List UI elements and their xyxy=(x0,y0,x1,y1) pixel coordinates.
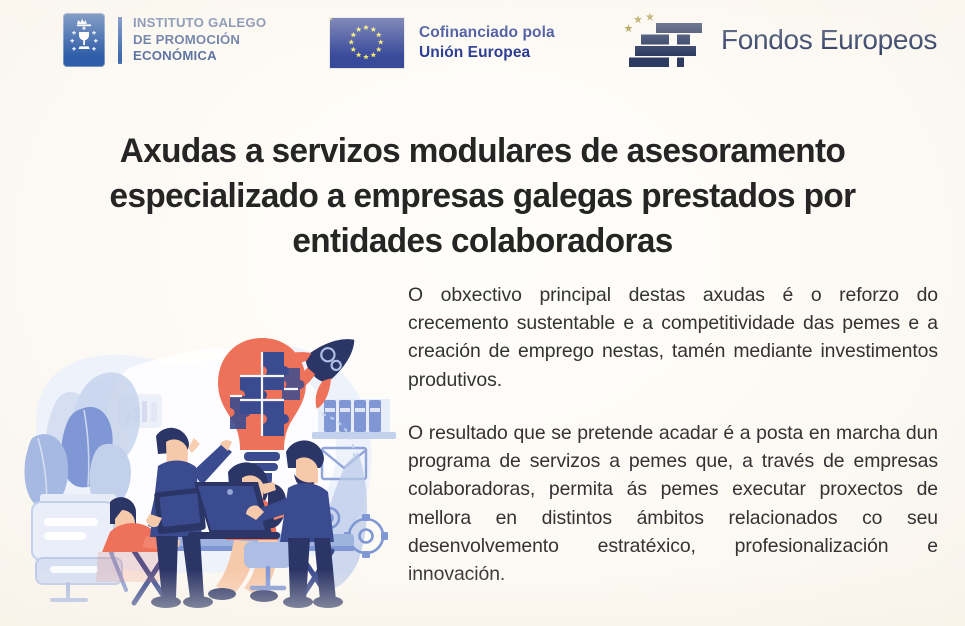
page-title: Axudas a servizos modulares de asesorame… xyxy=(44,129,921,264)
logo-igape: INSTITUTO GALEGO DE PROMOCIÓN ECONÓMICA xyxy=(63,13,266,67)
paragraph-objective: O obxectivo principal destas axudas é o … xyxy=(408,281,938,394)
european-union-label: Cofinanciado pola Unión Europea xyxy=(419,23,555,62)
paragraph-result: O resultado que se pretende acadar é a p… xyxy=(408,419,938,588)
fondos-europeos-stair-mark xyxy=(622,9,708,71)
xunta-de-galicia-emblem xyxy=(63,13,105,67)
igape-label: INSTITUTO GALEGO DE PROMOCIÓN ECONÓMICA xyxy=(133,15,266,66)
igape-divider xyxy=(118,17,122,64)
team-brainstorming-illustration xyxy=(6,296,398,616)
fondos-europeos-label: Fondos Europeos xyxy=(721,24,937,56)
logo-fondos-europeos: Fondos Europeos xyxy=(622,9,937,71)
european-union-flag xyxy=(329,17,405,69)
logo-bar: INSTITUTO GALEGO DE PROMOCIÓN ECONÓMICA xyxy=(0,0,965,90)
logo-european-union: Cofinanciado pola Unión Europea xyxy=(329,17,555,69)
body-copy: O obxectivo principal destas axudas é o … xyxy=(408,281,938,588)
